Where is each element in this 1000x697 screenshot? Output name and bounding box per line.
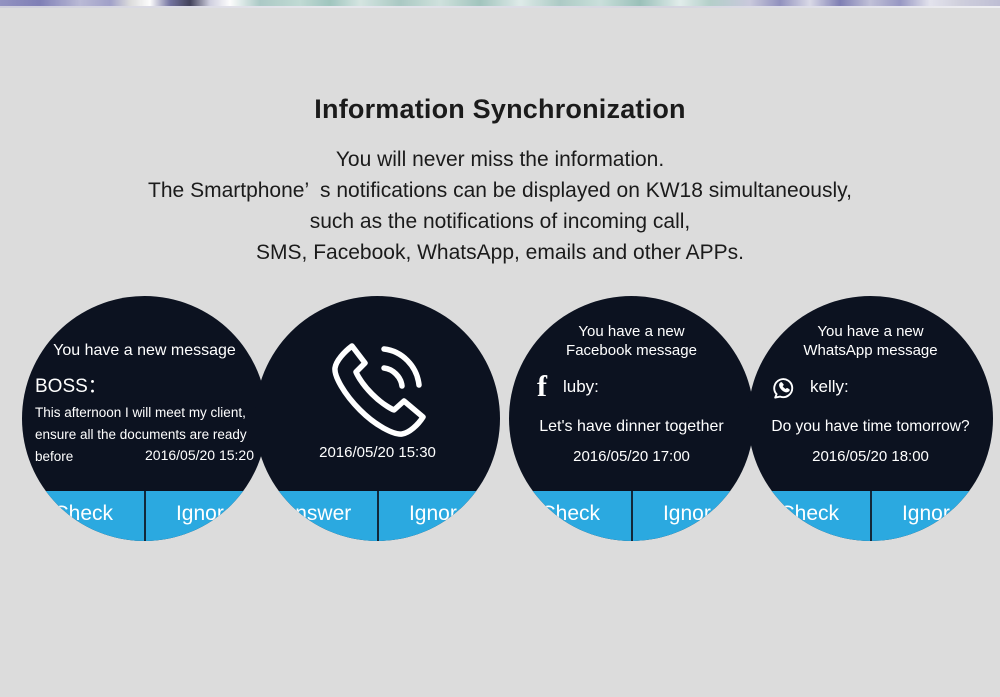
- watch-whatsapp-screen: You have a new WhatsApp message kelly: D…: [748, 296, 993, 491]
- facebook-sender-row: f luby:: [533, 374, 599, 400]
- intro-line-2: The Smartphone’ s notifications can be d…: [0, 175, 1000, 206]
- facebook-message: Let's have dinner together: [509, 418, 754, 436]
- whatsapp-check-button[interactable]: Check: [748, 491, 871, 541]
- facebook-icon: f: [533, 374, 551, 400]
- watch-facebook-screen: You have a new Facebook message f luby: …: [509, 296, 754, 491]
- facebook-timestamp: 2016/05/20 17:00: [509, 448, 754, 465]
- whatsapp-timestamp: 2016/05/20 18:00: [748, 448, 993, 465]
- call-ignore-button[interactable]: Ignore: [378, 491, 501, 541]
- watch-incoming-call: 2016/05/20 15:30 Answer Ignore: [255, 296, 500, 541]
- page-title: Information Synchronization: [0, 94, 1000, 125]
- whatsapp-button-divider: [870, 491, 872, 541]
- sms-body-line-1: This afternoon I will meet my client,: [35, 402, 257, 424]
- watch-sms-notification: You have a new message BOSS： This aftern…: [22, 296, 267, 541]
- whatsapp-header: You have a new WhatsApp message: [748, 322, 993, 360]
- call-timestamp: 2016/05/20 15:30: [255, 444, 500, 461]
- facebook-ignore-button[interactable]: Ignore: [632, 491, 755, 541]
- sms-header: You have a new message: [22, 342, 267, 360]
- watch-call-screen: 2016/05/20 15:30: [255, 296, 500, 491]
- intro-line-3: such as the notifications of incoming ca…: [0, 206, 1000, 237]
- top-image-strip-line: [0, 6, 1000, 8]
- whatsapp-sender-row: kelly:: [772, 374, 849, 400]
- facebook-check-button[interactable]: Check: [509, 491, 632, 541]
- watch-whatsapp-notification: You have a new WhatsApp message kelly: D…: [748, 296, 993, 541]
- whatsapp-icon: [772, 374, 798, 400]
- sms-button-divider: [144, 491, 146, 541]
- sms-check-button[interactable]: Check: [22, 491, 145, 541]
- intro-line-4: SMS, Facebook, WhatsApp, emails and othe…: [0, 237, 1000, 268]
- call-button-divider: [377, 491, 379, 541]
- intro-line-1: You will never miss the information.: [0, 144, 1000, 175]
- whatsapp-ignore-button[interactable]: Ignore: [871, 491, 994, 541]
- whatsapp-header-line-1: You have a new: [748, 322, 993, 341]
- facebook-action-bar: Check Ignore: [509, 491, 754, 541]
- facebook-header-line-2: Facebook message: [509, 341, 754, 360]
- whatsapp-action-bar: Check Ignore: [748, 491, 993, 541]
- call-answer-button[interactable]: Answer: [255, 491, 378, 541]
- watch-sms-screen: You have a new message BOSS： This aftern…: [22, 296, 267, 491]
- intro-paragraph: You will never miss the information. The…: [0, 144, 1000, 268]
- facebook-header-line-1: You have a new: [509, 322, 754, 341]
- whatsapp-header-line-2: WhatsApp message: [748, 341, 993, 360]
- facebook-header: You have a new Facebook message: [509, 322, 754, 360]
- call-action-bar: Answer Ignore: [255, 491, 500, 541]
- whatsapp-sender: kelly:: [810, 377, 849, 397]
- whatsapp-message: Do you have time tomorrow?: [748, 418, 993, 436]
- phone-ringing-icon: [322, 338, 434, 443]
- facebook-button-divider: [631, 491, 633, 541]
- sms-body-line-2: ensure all the documents are ready: [35, 424, 257, 446]
- watch-facebook-notification: You have a new Facebook message f luby: …: [509, 296, 754, 541]
- top-image-strip: [0, 0, 1000, 8]
- facebook-sender: luby:: [563, 377, 599, 397]
- sms-sender: BOSS：: [35, 371, 107, 398]
- sms-action-bar: Check Ignore: [22, 491, 267, 541]
- sms-ignore-button[interactable]: Ignore: [145, 491, 268, 541]
- sms-timestamp: 2016/05/20 15:20: [22, 447, 254, 463]
